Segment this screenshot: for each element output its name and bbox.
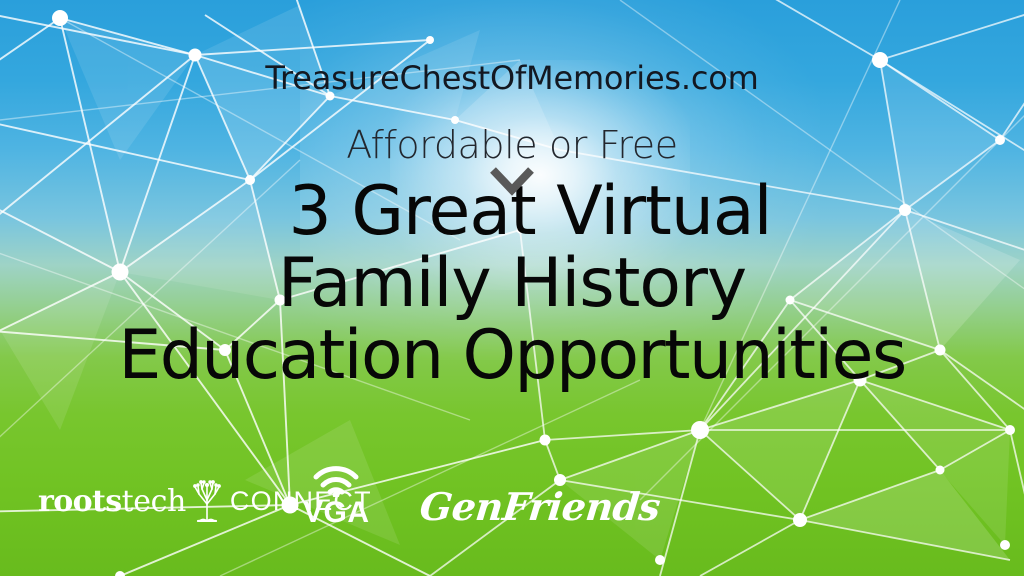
rootstech-tech-text: tech xyxy=(122,484,186,519)
subline-row: Affordable or Free xyxy=(0,126,1024,174)
rootstech-tree-icon xyxy=(190,480,224,522)
headline-line-1: 3 Great Virtual xyxy=(0,176,1024,248)
site-url: TreasureChestOfMemories.com xyxy=(0,62,1024,96)
subline-affordable-or-free: Affordable or Free xyxy=(0,126,1024,164)
sponsor-logo-row: roots tech xyxy=(0,460,1024,534)
rootstech-roots-text: roots xyxy=(38,484,122,519)
poster-text-block: TreasureChestOfMemories.com Affordable o… xyxy=(0,62,1024,392)
logo-genfriends[interactable]: GenFriends xyxy=(420,488,660,526)
promo-poster: TreasureChestOfMemories.com Affordable o… xyxy=(0,0,1024,576)
headline-line-3: Education Opportunities xyxy=(0,320,1024,392)
vga-label: VGA xyxy=(303,498,370,528)
logo-vga[interactable]: VGA xyxy=(303,465,370,528)
genfriends-label: GenFriends xyxy=(418,488,662,526)
headline-line-2: Family History xyxy=(0,248,1024,320)
headline: 3 Great Virtual Family History Education… xyxy=(0,176,1024,392)
wifi-signal-icon xyxy=(311,465,361,497)
